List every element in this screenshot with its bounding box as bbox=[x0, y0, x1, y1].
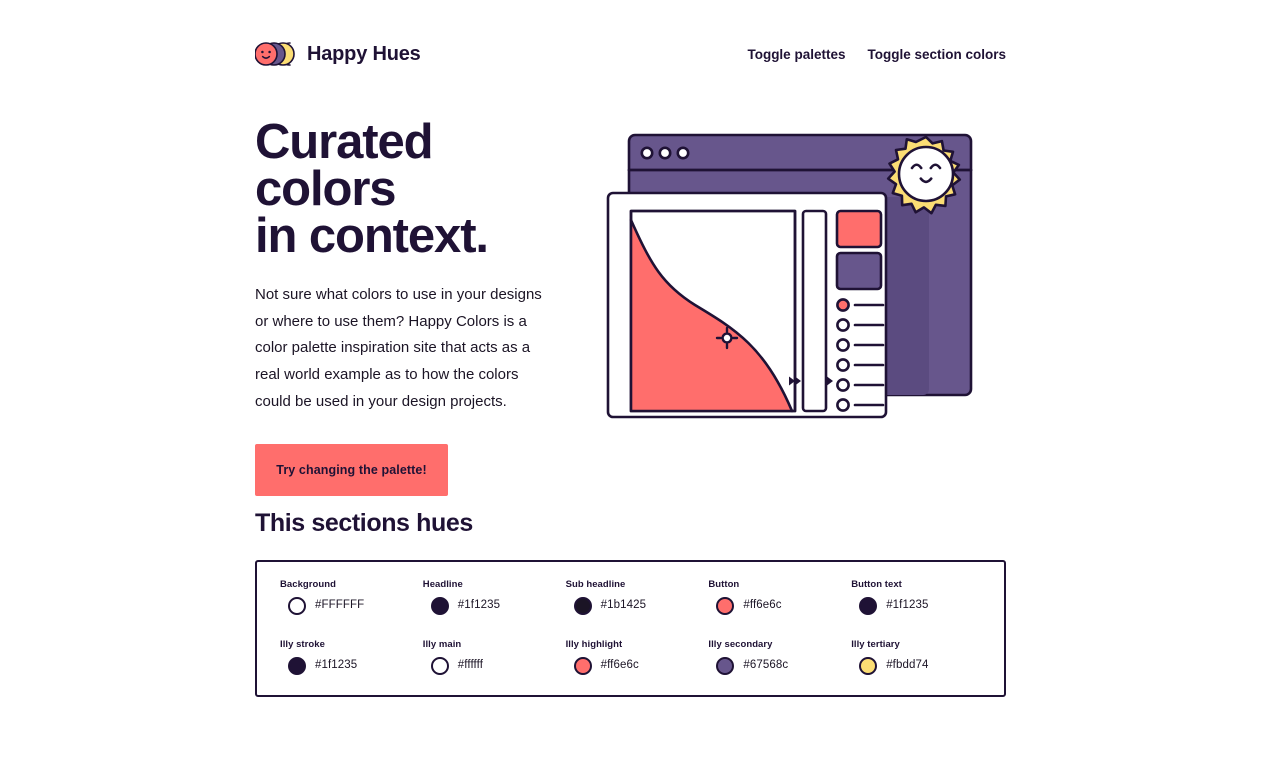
hero-copy: Curated colors in context. Not sure what… bbox=[255, 110, 555, 496]
hue-swatch-icon bbox=[288, 597, 306, 615]
hue-swatch-icon bbox=[431, 657, 449, 675]
hue-row: #ffffff bbox=[423, 657, 566, 675]
hue-row: #1f1235 bbox=[280, 657, 423, 675]
hue-row: #fbdd74 bbox=[851, 657, 994, 675]
section-hues: This sections hues Background #FFFFFF He… bbox=[255, 510, 1006, 697]
hue-row: #ff6e6c bbox=[566, 657, 709, 675]
hue-item-background: Background #FFFFFF bbox=[280, 580, 423, 632]
hue-item-illy-tertiary: Illy tertiary #fbdd74 bbox=[851, 640, 994, 692]
hue-swatch-icon bbox=[574, 597, 592, 615]
section-hues-title: This sections hues bbox=[255, 510, 1006, 538]
hue-label: Illy tertiary bbox=[851, 640, 994, 650]
hue-item-illy-highlight: Illy highlight #ff6e6c bbox=[566, 640, 709, 692]
hue-label: Illy highlight bbox=[566, 640, 709, 650]
hue-value: #ff6e6c bbox=[601, 660, 639, 672]
hue-row: #1f1235 bbox=[851, 597, 994, 615]
hue-swatch-icon bbox=[431, 597, 449, 615]
hero-title-line-2: in context. bbox=[255, 209, 488, 263]
hue-label: Sub headline bbox=[566, 580, 709, 590]
brand-name: Happy Hues bbox=[307, 44, 421, 64]
hue-swatch-icon bbox=[288, 657, 306, 675]
site-header: Happy Hues Toggle palettes Toggle sectio… bbox=[255, 36, 1006, 72]
browser-window-illustration bbox=[605, 115, 1005, 445]
hue-value: #1f1235 bbox=[458, 600, 500, 612]
hue-label: Illy stroke bbox=[280, 640, 423, 650]
hue-item-sub-headline: Sub headline #1b1425 bbox=[566, 580, 709, 632]
hue-item-illy-secondary: Illy secondary #67568c bbox=[708, 640, 851, 692]
brand[interactable]: Happy Hues bbox=[255, 41, 421, 67]
hue-swatch-icon bbox=[859, 657, 877, 675]
hue-label: Illy main bbox=[423, 640, 566, 650]
page-root: Happy Hues Toggle palettes Toggle sectio… bbox=[0, 0, 1280, 758]
hue-label: Illy secondary bbox=[708, 640, 851, 650]
happy-hues-logo-icon bbox=[255, 41, 295, 67]
header-nav: Toggle palettes Toggle section colors bbox=[747, 47, 1006, 62]
hue-label: Background bbox=[280, 580, 423, 590]
toggle-section-colors-button[interactable]: Toggle section colors bbox=[867, 47, 1006, 62]
page-title: Curated colors in context. bbox=[255, 110, 555, 260]
hue-swatch-icon bbox=[716, 597, 734, 615]
hue-row: #1b1425 bbox=[566, 597, 709, 615]
hue-value: #FFFFFF bbox=[315, 600, 364, 612]
hue-row: #FFFFFF bbox=[280, 597, 423, 615]
hero-section: Curated colors in context. Not sure what… bbox=[255, 110, 1006, 460]
hue-value: #1b1425 bbox=[601, 600, 646, 612]
hue-label: Button text bbox=[851, 580, 994, 590]
hue-item-button: Button #ff6e6c bbox=[708, 580, 851, 632]
hue-item-illy-main: Illy main #ffffff bbox=[423, 640, 566, 692]
hue-value: #fbdd74 bbox=[886, 660, 928, 672]
hue-label: Headline bbox=[423, 580, 566, 590]
hero-title-line-1: Curated colors bbox=[255, 115, 432, 216]
hue-row: #1f1235 bbox=[423, 597, 566, 615]
hues-card: Background #FFFFFF Headline #1f1235 Sub … bbox=[255, 560, 1006, 697]
hue-swatch-icon bbox=[574, 657, 592, 675]
hue-swatch-icon bbox=[859, 597, 877, 615]
toggle-palettes-button[interactable]: Toggle palettes bbox=[747, 47, 845, 62]
hues-grid: Background #FFFFFF Headline #1f1235 Sub … bbox=[257, 580, 1004, 692]
hue-value: #1f1235 bbox=[315, 660, 357, 672]
hue-row: #ff6e6c bbox=[708, 597, 851, 615]
hue-value: #ff6e6c bbox=[743, 600, 781, 612]
hue-value: #ffffff bbox=[458, 660, 483, 672]
hue-item-button-text: Button text #1f1235 bbox=[851, 580, 994, 632]
hero-subtitle: Not sure what colors to use in your desi… bbox=[255, 282, 547, 416]
hue-label: Button bbox=[708, 580, 851, 590]
hue-value: #1f1235 bbox=[886, 600, 928, 612]
hue-row: #67568c bbox=[708, 657, 851, 675]
try-changing-palette-button[interactable]: Try changing the palette! bbox=[255, 444, 448, 496]
hue-swatch-icon bbox=[716, 657, 734, 675]
hue-value: #67568c bbox=[743, 660, 788, 672]
hue-item-headline: Headline #1f1235 bbox=[423, 580, 566, 632]
hue-item-illy-stroke: Illy stroke #1f1235 bbox=[280, 640, 423, 692]
